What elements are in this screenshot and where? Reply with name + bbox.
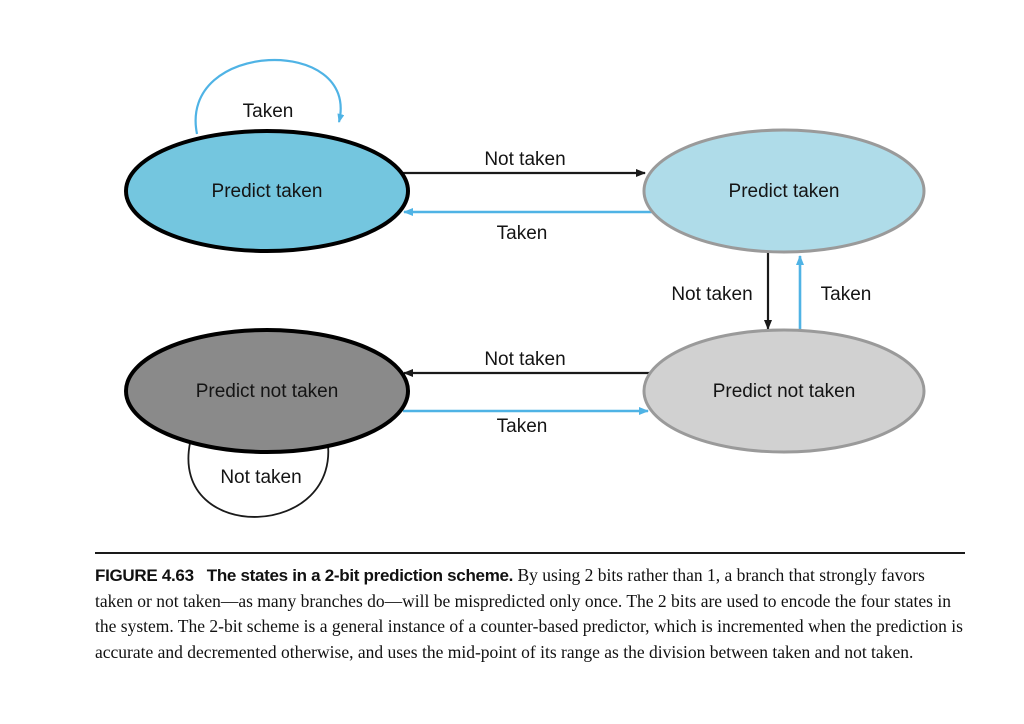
state-label: Predict not taken bbox=[713, 381, 856, 402]
edge-label-right-up-taken: Taken bbox=[821, 284, 872, 305]
state-strong-predict-not-taken[interactable]: Predict not taken bbox=[126, 330, 408, 452]
figure-caption: FIGURE 4.63The states in a 2-bit predict… bbox=[95, 552, 965, 665]
state-strong-predict-taken[interactable]: Predict taken bbox=[126, 131, 408, 251]
state-weak-predict-not-taken[interactable]: Predict not taken bbox=[644, 330, 924, 452]
edge-label-right-down-not-taken: Not taken bbox=[671, 284, 752, 305]
figure-number: FIGURE 4.63 bbox=[95, 566, 194, 585]
transition-self-loop-top bbox=[196, 60, 341, 134]
edge-label-bottom-left-not-taken: Not taken bbox=[484, 349, 565, 370]
edge-label-bottom-right-taken: Taken bbox=[497, 416, 548, 437]
state-weak-predict-taken[interactable]: Predict taken bbox=[644, 130, 924, 252]
state-label: Predict taken bbox=[729, 181, 840, 202]
edge-label-self-loop-bottom: Not taken bbox=[220, 467, 301, 488]
state-label: Predict taken bbox=[212, 181, 323, 202]
figure-title: The states in a 2-bit prediction scheme. bbox=[207, 566, 513, 585]
edge-label-top-left-taken: Taken bbox=[497, 223, 548, 244]
caption-divider bbox=[95, 552, 965, 554]
state-label: Predict not taken bbox=[196, 381, 339, 402]
figure-page: Predict taken Predict taken Predict not … bbox=[0, 0, 1024, 724]
edge-label-self-loop-top: Taken bbox=[243, 101, 294, 122]
edge-label-top-right-not-taken: Not taken bbox=[484, 149, 565, 170]
caption-text: FIGURE 4.63The states in a 2-bit predict… bbox=[95, 563, 965, 665]
state-diagram: Predict taken Predict taken Predict not … bbox=[0, 0, 1024, 545]
